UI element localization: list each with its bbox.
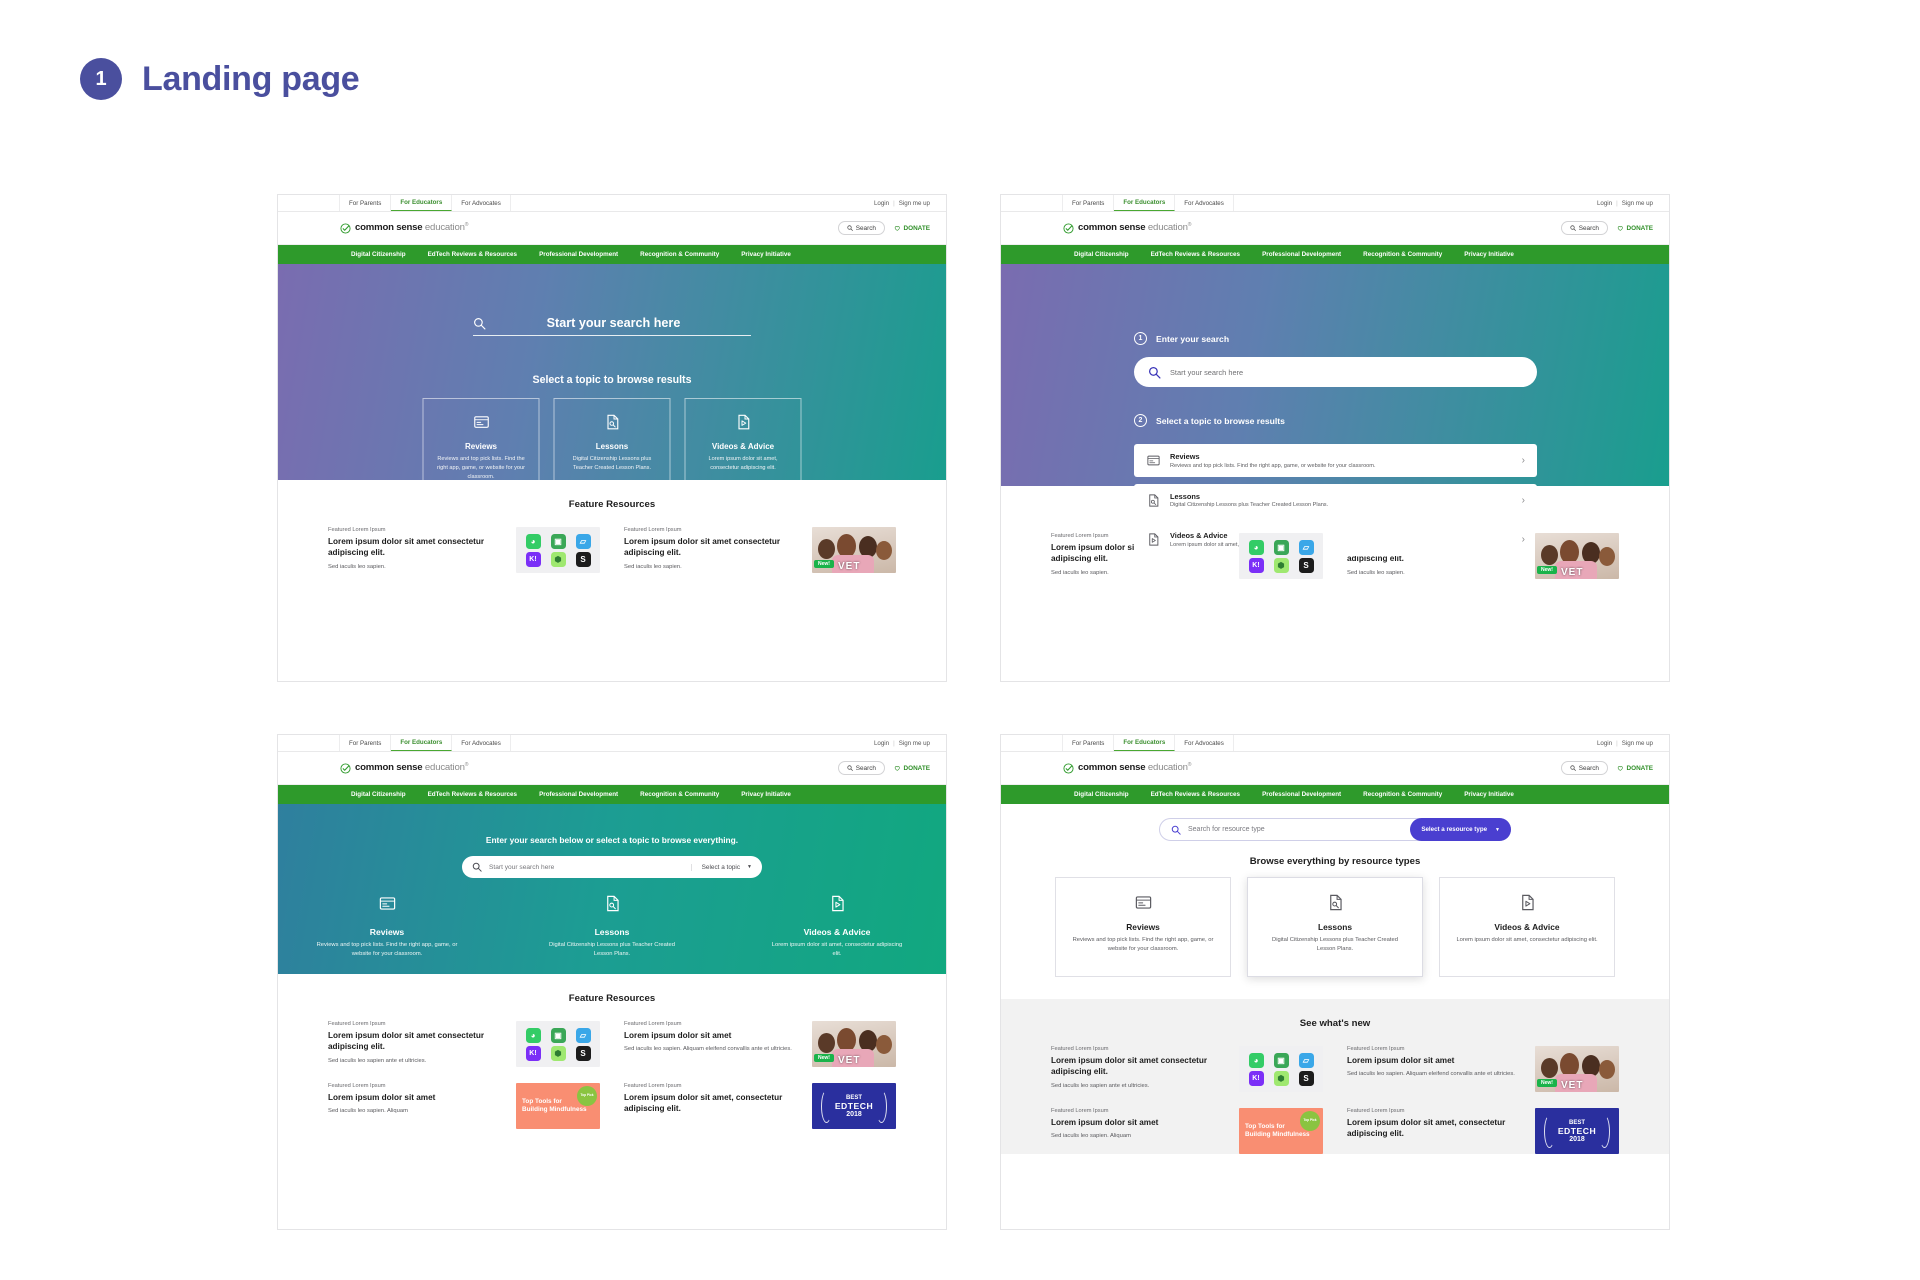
brand-actions: Search DONATE xyxy=(838,761,930,775)
nav-item-digital-citizenship[interactable]: Digital Citizenship xyxy=(1063,791,1140,798)
main-nav: Digital Citizenship EdTech Reviews & Res… xyxy=(1001,785,1669,804)
login-link[interactable]: Login xyxy=(874,740,889,747)
feature-item[interactable]: Featured Lorem Ipsum Lorem ipsum dolor s… xyxy=(328,1021,600,1067)
resource-card-lessons[interactable]: Lessons Digital Citizenship Lessons plus… xyxy=(1247,877,1423,977)
util-item-for-parents[interactable]: For Parents xyxy=(340,195,391,211)
util-item-for-educators[interactable]: For Educators xyxy=(1114,195,1175,211)
brand-row: common sense education® Search DONATE xyxy=(1001,752,1669,785)
nav-item-edtech-reviews[interactable]: EdTech Reviews & Resources xyxy=(1140,251,1251,258)
feature-item[interactable]: Featured Lorem Ipsum Lorem ipsum dolor s… xyxy=(624,527,896,573)
nav-item-recognition-community[interactable]: Recognition & Community xyxy=(629,251,730,258)
resource-type-cards: Reviews Reviews and top pick lists. Find… xyxy=(1001,877,1669,999)
new-badge: New! xyxy=(814,1054,834,1062)
mindfulness-text: Top Tools for Building Mindfulness xyxy=(1245,1123,1310,1139)
class-dojo-icon: ◕ xyxy=(1249,1053,1264,1068)
utility-nav-spacer xyxy=(278,735,340,751)
hero-search-placeholder: Start your search here xyxy=(1170,368,1243,377)
check-circle-icon xyxy=(340,763,351,774)
step-1-number: 1 xyxy=(1134,332,1147,345)
util-item-for-advocates[interactable]: For Advocates xyxy=(1175,735,1234,751)
seesaw-icon: ▱ xyxy=(576,534,591,549)
feature-text: Featured Lorem Ipsum Lorem ipsum dolor s… xyxy=(1347,1108,1524,1154)
topic-card-desc: Reviews and top pick lists. Find the rig… xyxy=(435,455,528,482)
donate-button[interactable]: DONATE xyxy=(1617,765,1653,772)
main-nav: Digital Citizenship EdTech Reviews & Res… xyxy=(1001,245,1669,264)
search-button[interactable]: Search xyxy=(838,221,885,235)
logo-bold: common sense xyxy=(1078,223,1145,234)
vet-badge: VET xyxy=(1561,567,1583,578)
feature-text: Featured Lorem Ipsum Lorem ipsum dolor s… xyxy=(624,1083,801,1129)
video-icon xyxy=(734,413,752,431)
skype-icon: S xyxy=(576,552,591,567)
feature-kicker: Featured Lorem Ipsum xyxy=(624,1083,801,1089)
topic-row-text: Videos & Advice Lorem ipsum dolor sit am… xyxy=(1170,531,1513,548)
feature-headline: Lorem ipsum dolor sit amet consectetur a… xyxy=(1051,1055,1228,1078)
util-item-for-parents[interactable]: For Parents xyxy=(1063,735,1114,751)
nav-item-digital-citizenship[interactable]: Digital Citizenship xyxy=(340,251,417,258)
logo-trademark: ® xyxy=(1188,222,1191,228)
search-icon xyxy=(1570,225,1576,231)
search-button-label: Search xyxy=(1579,765,1599,772)
kids-photo-thumb: New! VET xyxy=(812,1021,896,1067)
google-classroom-icon: ▣ xyxy=(1274,1053,1289,1068)
best-edtech-line-2: EDTECH xyxy=(1558,1126,1596,1136)
heart-icon xyxy=(1617,765,1624,772)
resource-card-desc: Digital Citizenship Lessons plus Teacher… xyxy=(1262,936,1408,955)
signup-link[interactable]: Sign me up xyxy=(899,200,930,207)
resource-card-title: Videos & Advice xyxy=(1494,922,1559,932)
topic-select-label: Select a topic xyxy=(702,864,740,871)
top-pick-seal: Top Pick xyxy=(1300,1111,1320,1131)
feature-item[interactable]: Featured Lorem Ipsum Lorem ipsum dolor s… xyxy=(1051,1108,1323,1154)
utility-nav-account: Login | Sign me up xyxy=(1597,195,1669,211)
flipgrid-icon: ⬢ xyxy=(551,552,566,567)
whats-new-title: See what's new xyxy=(1001,999,1669,1046)
feature-kicker: Featured Lorem Ipsum xyxy=(1051,1108,1228,1114)
feature-subtext: Sed iaculis leo sapien. xyxy=(1051,569,1228,578)
brand-actions: Search DONATE xyxy=(1561,221,1653,235)
skype-icon: S xyxy=(1299,1071,1314,1086)
feature-resources-section: Feature Resources Featured Lorem Ipsum L… xyxy=(278,974,946,1129)
search-icon xyxy=(473,317,486,330)
donate-button[interactable]: DONATE xyxy=(1617,225,1653,232)
nav-item-edtech-reviews[interactable]: EdTech Reviews & Resources xyxy=(417,791,528,798)
laurel-right-icon xyxy=(876,1090,887,1123)
utility-nav: For Parents For Educators For Advocates … xyxy=(278,195,946,212)
app-icons-thumb: ◕ ▣ ▱ K! ⬢ S xyxy=(516,527,600,573)
signup-link[interactable]: Sign me up xyxy=(1622,200,1653,207)
reviews-icon xyxy=(1134,893,1153,912)
util-item-for-educators[interactable]: For Educators xyxy=(391,735,452,751)
best-edtech-thumb: BEST EDTECH 2018 xyxy=(812,1083,896,1129)
signup-link[interactable]: Sign me up xyxy=(1622,740,1653,747)
site-logo[interactable]: common sense education® xyxy=(1063,762,1191,773)
topic-card-lessons[interactable]: Lessons Digital Citizenship Lessons plus… xyxy=(554,398,671,494)
util-item-for-parents[interactable]: For Parents xyxy=(1063,195,1114,211)
feature-headline: Lorem ipsum dolor sit amet consectetur a… xyxy=(328,536,505,559)
nav-item-professional-development[interactable]: Professional Development xyxy=(528,791,629,798)
logo-wordmark: common sense education® xyxy=(1078,222,1191,233)
heart-icon xyxy=(894,225,901,232)
util-item-for-advocates[interactable]: For Advocates xyxy=(1175,195,1234,211)
feature-item[interactable]: Featured Lorem Ipsum Lorem ipsum dolor s… xyxy=(1347,1046,1619,1092)
nav-item-digital-citizenship[interactable]: Digital Citizenship xyxy=(1063,251,1140,258)
reviews-icon xyxy=(1146,453,1161,468)
best-edtech-thumb: BEST EDTECH 2018 xyxy=(1535,1108,1619,1154)
step-2: 2 Select a topic to browse results xyxy=(1134,414,1285,427)
feature-item[interactable]: Featured Lorem Ipsum Lorem ipsum dolor s… xyxy=(1347,1108,1619,1154)
nav-item-professional-development[interactable]: Professional Development xyxy=(528,251,629,258)
topic-row-title: Videos & Advice xyxy=(1170,531,1513,540)
hero-search-placeholder: Start your search here xyxy=(489,864,684,871)
nav-item-recognition-community[interactable]: Recognition & Community xyxy=(629,791,730,798)
google-classroom-icon: ▣ xyxy=(551,1028,566,1043)
hero-section: Enter your search below or select a topi… xyxy=(278,804,946,974)
util-separator: | xyxy=(1616,200,1618,207)
donate-button[interactable]: DONATE xyxy=(894,225,930,232)
signup-link[interactable]: Sign me up xyxy=(899,740,930,747)
check-circle-icon xyxy=(1063,223,1074,234)
page-header: 1 Landing page xyxy=(80,58,359,100)
chevron-down-icon: ▼ xyxy=(747,864,752,870)
nav-item-recognition-community[interactable]: Recognition & Community xyxy=(1352,251,1453,258)
nav-item-privacy-initiative[interactable]: Privacy Initiative xyxy=(730,251,802,258)
feature-text: Featured Lorem Ipsum Lorem ipsum dolor s… xyxy=(328,527,505,573)
login-link[interactable]: Login xyxy=(1597,740,1612,747)
utility-nav-account: Login | Sign me up xyxy=(1597,735,1669,751)
best-edtech-line-3: 2018 xyxy=(1569,1136,1585,1143)
feature-kicker: Featured Lorem Ipsum xyxy=(1347,1046,1524,1052)
top-pick-seal: Top Pick xyxy=(577,1086,597,1106)
nav-item-professional-development[interactable]: Professional Development xyxy=(1251,251,1352,258)
search-icon xyxy=(472,862,482,872)
hero-search-input[interactable]: Start your search here Select a topic ▼ xyxy=(462,856,762,878)
search-icon xyxy=(847,225,853,231)
main-nav: Digital Citizenship EdTech Reviews & Res… xyxy=(278,785,946,804)
topic-row-text: Reviews Reviews and top pick lists. Find… xyxy=(1170,452,1513,469)
utility-nav: For Parents For Educators For Advocates … xyxy=(1001,735,1669,752)
topic-card-reviews[interactable]: Reviews Reviews and top pick lists. Find… xyxy=(423,398,540,494)
utility-nav: For Parents For Educators For Advocates … xyxy=(1001,195,1669,212)
step-2-number: 2 xyxy=(1134,414,1147,427)
logo-trademark: ® xyxy=(1188,762,1191,768)
feature-subtext: Sed iaculis leo sapien. xyxy=(624,563,801,572)
seesaw-icon: ▱ xyxy=(1299,540,1314,555)
laurel-left-icon xyxy=(821,1090,832,1123)
feature-kicker: Featured Lorem Ipsum xyxy=(328,527,505,533)
topic-row-desc: Lorem ipsum dolor sit amet, consectetur … xyxy=(1170,542,1513,548)
nav-item-professional-development[interactable]: Professional Development xyxy=(1251,791,1352,798)
login-link[interactable]: Login xyxy=(874,200,889,207)
logo-light: education xyxy=(1148,763,1188,774)
feature-headline: Lorem ipsum dolor sit amet xyxy=(328,1092,505,1103)
chevron-right-icon: › xyxy=(1522,534,1525,545)
flipgrid-icon: ⬢ xyxy=(1274,1071,1289,1086)
util-separator: | xyxy=(1616,740,1618,747)
topic-card-desc: Reviews and top pick lists. Find the rig… xyxy=(305,941,470,960)
browse-title: Browse everything by resource types xyxy=(1001,856,1669,877)
topic-card-lessons[interactable]: Lessons Digital Citizenship Lessons plus… xyxy=(530,894,695,960)
reviews-icon xyxy=(472,413,490,431)
resource-type-select-label: Select a resource type xyxy=(1421,826,1487,833)
laurel-left-icon xyxy=(1544,1115,1555,1148)
mindfulness-thumb: Top Tools for Building Mindfulness Top P… xyxy=(1239,1108,1323,1154)
step-badge: 1 xyxy=(80,58,122,100)
feature-kicker: Featured Lorem Ipsum xyxy=(624,1021,801,1027)
topic-row-desc: Digital Citizenship Lessons plus Teacher… xyxy=(1170,502,1513,508)
utility-nav-filler xyxy=(1234,735,1597,751)
kids-photo-thumb: New! VET xyxy=(812,527,896,573)
feature-subtext: Sed iaculis leo sapien. Aliquam eleifend… xyxy=(1347,1070,1524,1079)
lessons-icon xyxy=(603,894,622,913)
logo-light: education xyxy=(425,763,465,774)
chevron-down-icon: ▼ xyxy=(1495,827,1500,833)
flipgrid-icon: ⬢ xyxy=(551,1046,566,1061)
nav-item-digital-citizenship[interactable]: Digital Citizenship xyxy=(340,791,417,798)
topic-card-desc: Digital Citizenship Lessons plus Teacher… xyxy=(566,455,659,473)
feature-item[interactable]: Featured Lorem Ipsum Lorem ipsum dolor s… xyxy=(624,1021,896,1067)
feature-headline: Lorem ipsum dolor sit amet, consectetur … xyxy=(1347,1117,1524,1140)
search-icon xyxy=(847,765,853,771)
feature-kicker: Featured Lorem Ipsum xyxy=(1051,1046,1228,1052)
resource-card-reviews[interactable]: Reviews Reviews and top pick lists. Find… xyxy=(1055,877,1231,977)
topic-cards: Reviews Reviews and top pick lists. Find… xyxy=(278,894,946,960)
google-classroom-icon: ▣ xyxy=(551,534,566,549)
utility-nav-filler xyxy=(1234,195,1597,211)
search-button-label: Search xyxy=(856,765,876,772)
lessons-icon xyxy=(603,413,621,431)
feature-text: Featured Lorem Ipsum Lorem ipsum dolor s… xyxy=(624,1021,801,1067)
mindfulness-thumb: Top Tools for Building Mindfulness Top P… xyxy=(516,1083,600,1129)
app-icons-thumb: ◕ ▣ ▱ K! ⬢ S xyxy=(1239,1046,1323,1092)
feature-subtext: Sed iaculis leo sapien ante et ultricies… xyxy=(1051,1082,1228,1091)
logo-bold: common sense xyxy=(355,763,422,774)
hero-search[interactable]: Start your search here xyxy=(473,316,751,336)
feature-text: Featured Lorem Ipsum Lorem ipsum dolor s… xyxy=(328,1083,505,1129)
feature-headline: Lorem ipsum dolor sit amet xyxy=(1347,1055,1524,1066)
logo-bold: common sense xyxy=(355,223,422,234)
feature-text: Featured Lorem Ipsum Lorem ipsum dolor s… xyxy=(1051,1108,1228,1154)
feature-item[interactable]: Featured Lorem Ipsum Lorem ipsum dolor s… xyxy=(328,527,600,573)
donate-button[interactable]: DONATE xyxy=(894,765,930,772)
logo-light: education xyxy=(1148,223,1188,234)
utility-nav-filler xyxy=(511,735,874,751)
search-icon xyxy=(1570,765,1576,771)
topic-card-title: Reviews xyxy=(305,927,470,937)
kahoot-icon: K! xyxy=(1249,1071,1264,1086)
vet-badge: VET xyxy=(838,561,860,572)
feature-subtext: Sed iaculis leo sapien. Aliquam xyxy=(1051,1132,1228,1141)
logo-light: education xyxy=(425,223,465,234)
utility-nav-filler xyxy=(511,195,874,211)
new-badge: New! xyxy=(1537,1079,1557,1087)
feature-item[interactable]: Featured Lorem Ipsum Lorem ipsum dolor s… xyxy=(624,1083,896,1129)
topic-card-desc: Lorem ipsum dolor sit amet, consectetur … xyxy=(697,455,790,473)
class-dojo-icon: ◕ xyxy=(526,534,541,549)
resource-type-select[interactable]: Select a resource type ▼ xyxy=(1410,818,1511,841)
check-circle-icon xyxy=(1063,763,1074,774)
kahoot-icon: K! xyxy=(526,552,541,567)
nav-item-edtech-reviews[interactable]: EdTech Reviews & Resources xyxy=(1140,791,1251,798)
chevron-right-icon: › xyxy=(1522,455,1525,466)
new-badge: New! xyxy=(1537,566,1557,574)
app-icons-thumb: ◕ ▣ ▱ K! ⬢ S xyxy=(516,1021,600,1067)
feature-kicker: Featured Lorem Ipsum xyxy=(328,1083,505,1089)
brand-row: common sense education® Search DONATE xyxy=(278,752,946,785)
search-button[interactable]: Search xyxy=(1561,221,1608,235)
topic-card-title: Videos & Advice xyxy=(712,442,774,451)
site-logo[interactable]: common sense education® xyxy=(1063,222,1191,233)
utility-nav: For Parents For Educators For Advocates … xyxy=(278,735,946,752)
feature-headline: Lorem ipsum dolor sit amet consectetur a… xyxy=(624,536,801,559)
topic-row-title: Lessons xyxy=(1170,492,1513,501)
whats-new-grid: Featured Lorem Ipsum Lorem ipsum dolor s… xyxy=(1001,1046,1669,1092)
hero-section: 1 Enter your search Start your search he… xyxy=(1001,264,1669,486)
feature-text: Featured Lorem Ipsum Lorem ipsum dolor s… xyxy=(1051,1046,1228,1092)
video-icon xyxy=(828,894,847,913)
vet-badge: VET xyxy=(1561,1080,1583,1091)
mindfulness-text: Top Tools for Building Mindfulness xyxy=(522,1098,587,1114)
logo-wordmark: common sense education® xyxy=(355,762,468,773)
logo-trademark: ® xyxy=(465,222,468,228)
landing-page-mockups: 1 Landing page For Parents For Educators… xyxy=(0,0,1920,1280)
whats-new-section: See what's new Featured Lorem Ipsum Lore… xyxy=(1001,999,1669,1154)
topic-row-lessons[interactable]: Lessons Digital Citizenship Lessons plus… xyxy=(1134,484,1537,517)
new-badge: New! xyxy=(814,560,834,568)
topic-row-text: Lessons Digital Citizenship Lessons plus… xyxy=(1170,492,1513,509)
mockup-1: For Parents For Educators For Advocates … xyxy=(277,194,947,682)
feature-resources-grid: Featured Lorem Ipsum Lorem ipsum dolor s… xyxy=(278,527,946,573)
mockup-4: For Parents For Educators For Advocates … xyxy=(1000,734,1670,1230)
kahoot-icon: K! xyxy=(1249,558,1264,573)
utility-nav-account: Login | Sign me up xyxy=(874,195,946,211)
util-separator: | xyxy=(893,740,895,747)
resource-card-title: Reviews xyxy=(1126,922,1160,932)
heart-icon xyxy=(1617,225,1624,232)
donate-button-label: DONATE xyxy=(1626,225,1653,232)
laurel-right-icon xyxy=(1599,1115,1610,1148)
hero-subtitle: Select a topic to browse results xyxy=(278,374,946,386)
search-button[interactable]: Search xyxy=(838,761,885,775)
step-1: 1 Enter your search xyxy=(1134,332,1229,345)
topic-cards: Reviews Reviews and top pick lists. Find… xyxy=(423,398,802,494)
chevron-right-icon: › xyxy=(1522,495,1525,506)
resource-card-desc: Lorem ipsum dolor sit amet, consectetur … xyxy=(1456,936,1597,945)
resource-card-videos-advice[interactable]: Videos & Advice Lorem ipsum dolor sit am… xyxy=(1439,877,1615,977)
best-edtech-line-3: 2018 xyxy=(846,1111,862,1118)
topic-card-videos-advice[interactable]: Videos & Advice Lorem ipsum dolor sit am… xyxy=(685,398,802,494)
feature-resources-grid: Featured Lorem Ipsum Lorem ipsum dolor s… xyxy=(278,1021,946,1067)
feature-kicker: Featured Lorem Ipsum xyxy=(1347,1108,1524,1114)
site-logo[interactable]: common sense education® xyxy=(340,762,468,773)
nav-item-edtech-reviews[interactable]: EdTech Reviews & Resources xyxy=(417,251,528,258)
kahoot-icon: K! xyxy=(526,1046,541,1061)
skype-icon: S xyxy=(576,1046,591,1061)
nav-item-privacy-initiative[interactable]: Privacy Initiative xyxy=(1453,791,1525,798)
hero-lead-text: Enter your search below or select a topi… xyxy=(278,835,946,845)
nav-item-privacy-initiative[interactable]: Privacy Initiative xyxy=(1453,251,1525,258)
topic-card-reviews[interactable]: Reviews Reviews and top pick lists. Find… xyxy=(305,894,470,960)
mockup-2: For Parents For Educators For Advocates … xyxy=(1000,194,1670,682)
topic-row-videos-advice[interactable]: Videos & Advice Lorem ipsum dolor sit am… xyxy=(1134,523,1537,556)
video-icon xyxy=(1146,532,1161,547)
check-circle-icon xyxy=(340,223,351,234)
topic-row-title: Reviews xyxy=(1170,452,1513,461)
donate-button-label: DONATE xyxy=(1626,765,1653,772)
best-edtech-line-2: EDTECH xyxy=(835,1101,873,1111)
feature-item[interactable]: Featured Lorem Ipsum Lorem ipsum dolor s… xyxy=(1051,1046,1323,1092)
util-item-for-parents[interactable]: For Parents xyxy=(340,735,391,751)
util-item-for-educators[interactable]: For Educators xyxy=(391,195,452,211)
util-item-for-advocates[interactable]: For Advocates xyxy=(452,735,511,751)
topic-row-reviews[interactable]: Reviews Reviews and top pick lists. Find… xyxy=(1134,444,1537,477)
topic-card-videos-advice[interactable]: Videos & Advice Lorem ipsum dolor sit am… xyxy=(755,894,920,960)
hero-search-input[interactable]: Start your search here xyxy=(1134,357,1537,387)
brand-actions: Search DONATE xyxy=(838,221,930,235)
search-button[interactable]: Search xyxy=(1561,761,1608,775)
logo-bold: common sense xyxy=(1078,763,1145,774)
page-title: Landing page xyxy=(142,60,359,99)
search-icon xyxy=(1171,825,1181,835)
google-classroom-icon: ▣ xyxy=(1274,540,1289,555)
logo-trademark: ® xyxy=(465,762,468,768)
login-link[interactable]: Login xyxy=(1597,200,1612,207)
topic-card-title: Reviews xyxy=(465,442,497,451)
feature-resources-grid-row-2: Featured Lorem Ipsum Lorem ipsum dolor s… xyxy=(278,1083,946,1129)
nav-item-recognition-community[interactable]: Recognition & Community xyxy=(1352,791,1453,798)
seesaw-icon: ▱ xyxy=(576,1028,591,1043)
main-nav: Digital Citizenship EdTech Reviews & Res… xyxy=(278,245,946,264)
feature-subtext: Sed iaculis leo sapien. xyxy=(328,563,505,572)
step-2-label: Select a topic to browse results xyxy=(1156,416,1285,426)
feature-item[interactable]: Featured Lorem Ipsum Lorem ipsum dolor s… xyxy=(328,1083,600,1129)
feature-headline: Lorem ipsum dolor sit amet consectetur a… xyxy=(328,1030,505,1053)
hero-section: Start your search here Select a topic to… xyxy=(278,264,946,480)
logo-wordmark: common sense education® xyxy=(355,222,468,233)
brand-actions: Search DONATE xyxy=(1561,761,1653,775)
feature-headline: Lorem ipsum dolor sit amet xyxy=(624,1030,801,1041)
topic-card-desc: Lorem ipsum dolor sit amet, consectetur … xyxy=(755,941,920,960)
feature-subtext: Sed iaculis leo sapien ante et ultricies… xyxy=(328,1057,505,1066)
feature-subtext: Sed iaculis leo sapien. xyxy=(1347,569,1524,578)
class-dojo-icon: ◕ xyxy=(526,1028,541,1043)
util-item-for-advocates[interactable]: For Advocates xyxy=(452,195,511,211)
video-icon xyxy=(1518,893,1537,912)
brand-row: common sense education® Search DONATE xyxy=(1001,212,1669,245)
seesaw-icon: ▱ xyxy=(1299,1053,1314,1068)
resource-search-input[interactable]: Search for resource type Select a resour… xyxy=(1159,818,1511,841)
lessons-icon xyxy=(1146,493,1161,508)
hero-search-placeholder: Start your search here xyxy=(500,316,751,330)
kids-photo-thumb: New! VET xyxy=(1535,1046,1619,1092)
site-logo[interactable]: common sense education® xyxy=(340,222,468,233)
topic-rows: Reviews Reviews and top pick lists. Find… xyxy=(1134,444,1537,556)
feature-resources-title: Feature Resources xyxy=(278,974,946,1021)
util-item-for-educators[interactable]: For Educators xyxy=(1114,735,1175,751)
topic-card-title: Lessons xyxy=(530,927,695,937)
nav-item-privacy-initiative[interactable]: Privacy Initiative xyxy=(730,791,802,798)
logo-wordmark: common sense education® xyxy=(1078,762,1191,773)
whats-new-grid-row-2: Featured Lorem Ipsum Lorem ipsum dolor s… xyxy=(1001,1108,1669,1154)
search-icon xyxy=(1148,366,1161,379)
mindfulness-line-2: Building Mindfulness xyxy=(522,1106,587,1114)
brand-row: common sense education® Search DONATE xyxy=(278,212,946,245)
topic-select[interactable]: Select a topic ▼ xyxy=(691,864,752,871)
app-icons-thumb: ◕ ▣ ▱ K! ⬢ S xyxy=(1239,533,1323,579)
search-button-label: Search xyxy=(856,225,876,232)
feature-subtext: Sed iaculis leo sapien. Aliquam xyxy=(328,1107,505,1116)
feature-headline: Lorem ipsum dolor sit amet, consectetur … xyxy=(624,1092,801,1115)
